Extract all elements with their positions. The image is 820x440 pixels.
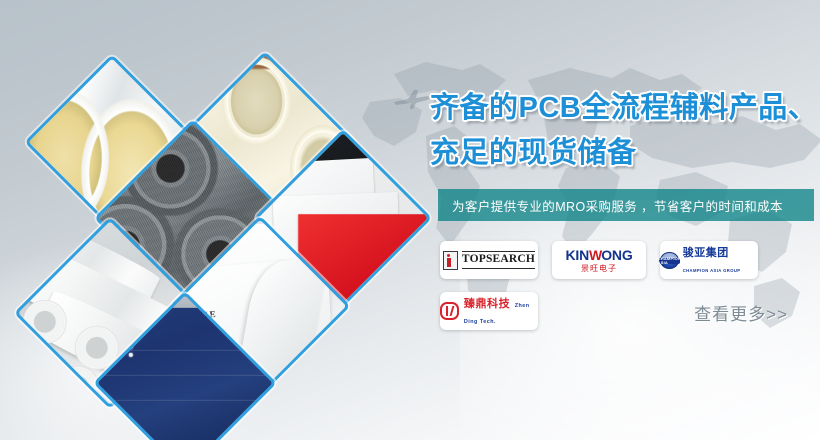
view-more-link[interactable]: 查看更多>>	[694, 300, 788, 325]
champion-en-text: CHAMPION ASIA GROUP	[683, 268, 741, 273]
headline-line-1: 齐备的PCB全流程辅料产品、	[430, 92, 817, 124]
zhen-ding-mark-icon	[440, 302, 459, 320]
logo-topsearch[interactable]: TOPSEARCH	[440, 241, 538, 279]
logo-kinwong[interactable]: KINWONG 景旺电子	[552, 241, 646, 279]
banner-content: 齐备的PCB全流程辅料产品、 充足的现货储备 为客户提供专业的MRO采购服务 ，…	[430, 0, 820, 440]
kinwong-text-a: KIN	[565, 247, 589, 263]
headline-line-2: 充足的现货储备	[430, 131, 820, 176]
champion-globe-band-text: CHAMPION ASIA	[658, 257, 681, 265]
partner-logo-row-2: 臻鼎科技 Zhen Ding Tech.	[440, 292, 538, 330]
banner-subtitle-text: 为客户提供专业的MRO采购服务 ，节省客户的时间和成本	[438, 196, 783, 215]
promo-banner: XX JIE 齐备的PCB全流程辅料产品、 充足的现货储备 为客户提供专业的MR…	[0, 0, 820, 440]
banner-headline: 齐备的PCB全流程辅料产品、 充足的现货储备	[430, 86, 820, 176]
topsearch-mark-icon	[443, 251, 458, 270]
product-image-collage: XX JIE	[0, 0, 420, 440]
kinwong-w-icon: W	[589, 247, 601, 263]
logo-zhen-ding[interactable]: 臻鼎科技 Zhen Ding Tech.	[440, 292, 538, 330]
topsearch-wordmark: TOPSEARCH	[462, 251, 535, 269]
kinwong-subtext: 景旺电子	[565, 265, 632, 273]
kinwong-text-b: ONG	[601, 247, 632, 263]
champion-cn-text: 骏亚集团	[683, 247, 729, 259]
zhen-ding-cn-text: 臻鼎科技	[464, 298, 510, 310]
banner-subtitle-bar: 为客户提供专业的MRO采购服务 ，节省客户的时间和成本	[438, 189, 814, 221]
kinwong-wordmark: KINWONG	[565, 248, 632, 262]
partner-logo-row-1: TOPSEARCH KINWONG 景旺电子 CHAMPION ASIA	[440, 241, 758, 279]
logo-champion-asia[interactable]: CHAMPION ASIA 骏亚集团 CHAMPION ASIA GROUP	[660, 241, 758, 279]
champion-globe-icon: CHAMPION ASIA	[660, 252, 679, 269]
